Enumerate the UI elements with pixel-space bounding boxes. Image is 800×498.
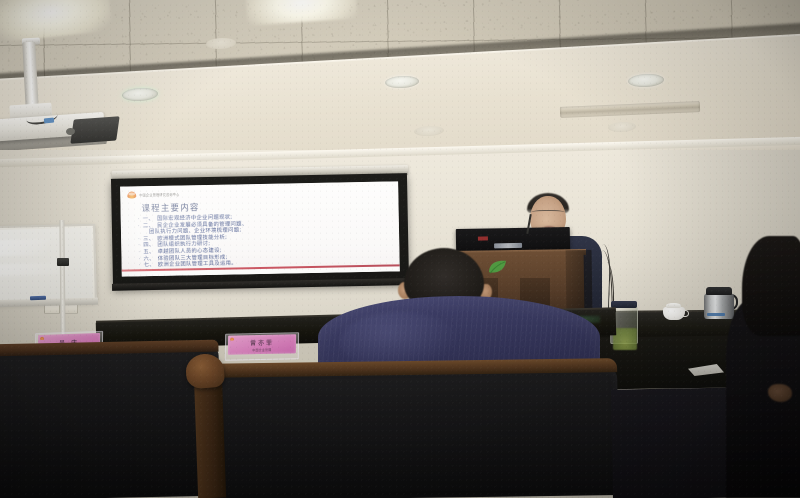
name-card-logo-icon <box>40 336 44 339</box>
right-edge-person-hand <box>768 384 792 402</box>
monitor-red-label <box>478 236 488 240</box>
name-card-right-name: 曾亦菲 <box>250 337 274 347</box>
podium-side-shadow <box>566 250 593 314</box>
stainless-thermos <box>703 285 735 319</box>
chair-armrest-post <box>194 374 226 498</box>
tea-leaves <box>613 328 637 350</box>
speaker-glasses <box>531 210 565 216</box>
name-card-right: 曾亦菲 中国企业管理 <box>228 334 296 354</box>
projector-vent-panel <box>70 116 119 144</box>
white-ceramic-teapot <box>662 302 688 320</box>
name-card-face: 曾亦菲 中国企业管理 <box>228 334 296 354</box>
monitor-brand-logo <box>494 243 522 248</box>
teapot-body <box>663 307 685 320</box>
presentation-slide: 中国企业管理研究咨询中心 课程主要内容 · 一、 国际宏观经济中企业问题现状; … <box>120 181 400 276</box>
slide-logo-text: 中国企业管理研究咨询中心 <box>139 191 179 198</box>
chair-armrest-knob <box>185 353 225 390</box>
projection-screen: 中国企业管理研究咨询中心 课程主要内容 · 一、 国际宏观经济中企业问题现状; … <box>111 173 409 289</box>
whiteboard-clip <box>57 258 69 266</box>
whiteboard-surface <box>0 228 93 300</box>
whiteboard <box>0 224 97 305</box>
company-logo-icon <box>127 191 136 198</box>
bullet-dot-icon: · <box>138 223 140 230</box>
green-leaf-logo-icon <box>486 258 510 276</box>
thermos-lid <box>706 287 732 295</box>
chair-left-wood-rail <box>0 340 219 357</box>
bullet-dot-icon: · <box>139 262 141 269</box>
projection-screen-surface: 中国企业管理研究咨询中心 课程主要内容 · 一、 国际宏观经济中企业问题现状; … <box>120 181 400 276</box>
slide-bullet-7-num: 七、 <box>144 262 155 269</box>
whiteboard-glare-1 <box>0 239 50 256</box>
photo-scene: 中国企业管理研究咨询中心 课程主要内容 · 一、 国际宏观经济中企业问题现状; … <box>0 0 800 498</box>
whiteboard-marker <box>30 296 46 300</box>
name-card-right-subtitle: 中国企业管理 <box>252 347 271 351</box>
right-edge-person-hair <box>742 236 800 336</box>
thermos-blue-band <box>707 313 725 316</box>
chair-right <box>197 365 619 498</box>
chair-right-wood-rail <box>197 358 617 378</box>
slide-bullet-list: · 一、 国际宏观经济中企业问题现状; · 二、 民企企业发展必须具备的管理问题… <box>138 211 394 269</box>
projector-blue-connector <box>44 118 54 124</box>
teapot-lid <box>666 303 681 308</box>
name-card-logo-icon <box>230 337 234 340</box>
